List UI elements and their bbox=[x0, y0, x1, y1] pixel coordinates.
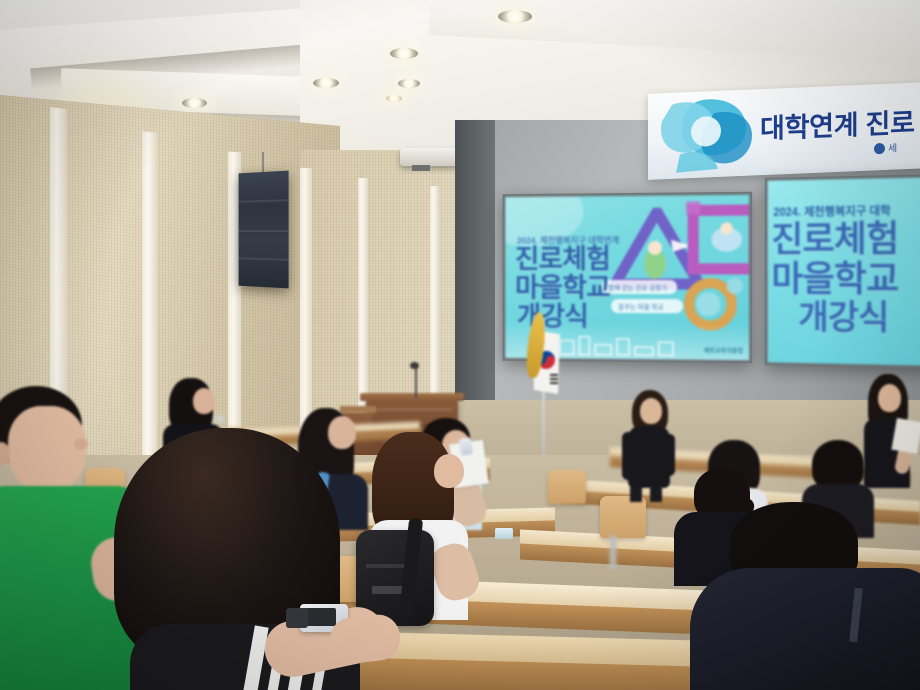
main-slide-line1: 진로체험 bbox=[515, 246, 610, 274]
nose bbox=[74, 438, 88, 450]
event-banner: 대학연계 진로 세 bbox=[648, 82, 920, 180]
downlight bbox=[390, 48, 418, 59]
banner-emblem-text: 세 bbox=[888, 143, 897, 154]
phone-case bbox=[286, 608, 308, 628]
podium-top bbox=[360, 393, 464, 401]
gooseneck-microphone bbox=[415, 366, 417, 398]
slide-bubble-1: 함께 걷는 진로 길찾기 bbox=[601, 280, 677, 294]
navy-shirt bbox=[690, 568, 920, 690]
main-slide-line2: 마을학교 bbox=[515, 275, 610, 302]
banner-emblem: 세 bbox=[874, 139, 897, 155]
slide-bubble-2: 꿈꾸는 마을 학교 bbox=[611, 299, 683, 313]
right-slide-line1: 진로체험 bbox=[771, 220, 898, 258]
line-array-speaker bbox=[239, 171, 289, 289]
chair-leg bbox=[610, 535, 616, 569]
downlight bbox=[313, 78, 339, 88]
ceiling-projector bbox=[400, 148, 460, 166]
microphone-capsule bbox=[410, 362, 419, 369]
chair bbox=[548, 470, 586, 504]
downlight bbox=[398, 79, 420, 88]
person-attendee-navy-foreground-right bbox=[700, 502, 920, 690]
magenta-square-shape bbox=[686, 201, 749, 278]
white-papers bbox=[891, 418, 920, 454]
slide-bubble-2-text: 꿈꾸는 마을 학교 bbox=[618, 301, 663, 311]
projector-mount bbox=[412, 165, 430, 171]
phone-on-desk bbox=[495, 528, 513, 539]
right-slide-line3: 개강식 bbox=[798, 301, 888, 337]
phone bbox=[215, 416, 224, 422]
downlight bbox=[386, 95, 402, 102]
slide-footer-logo: 제천교육지원청 bbox=[704, 346, 743, 355]
slide-bubble-1-text: 함께 걷는 진로 길찾기 bbox=[608, 282, 667, 292]
stage-wall-dark-edge bbox=[455, 120, 495, 420]
teal-flower-logo bbox=[656, 93, 760, 175]
chair bbox=[600, 496, 646, 538]
right-slide: 2024. 제천행복지구 대학 진로체험 마을학교 개강식 bbox=[768, 177, 920, 366]
downlight bbox=[498, 10, 532, 23]
speaker-cable bbox=[262, 152, 264, 174]
lecture-hall-photo: 대학연계 진로 세 2024. 제천행복지구 대학 진로체험 마을학교 개강식 bbox=[0, 0, 920, 690]
right-slide-line2: 마을학교 bbox=[771, 261, 898, 298]
projection-screen-right: 2024. 제천행복지구 대학 진로체험 마을학교 개강식 bbox=[765, 174, 920, 369]
downlight bbox=[182, 98, 207, 108]
